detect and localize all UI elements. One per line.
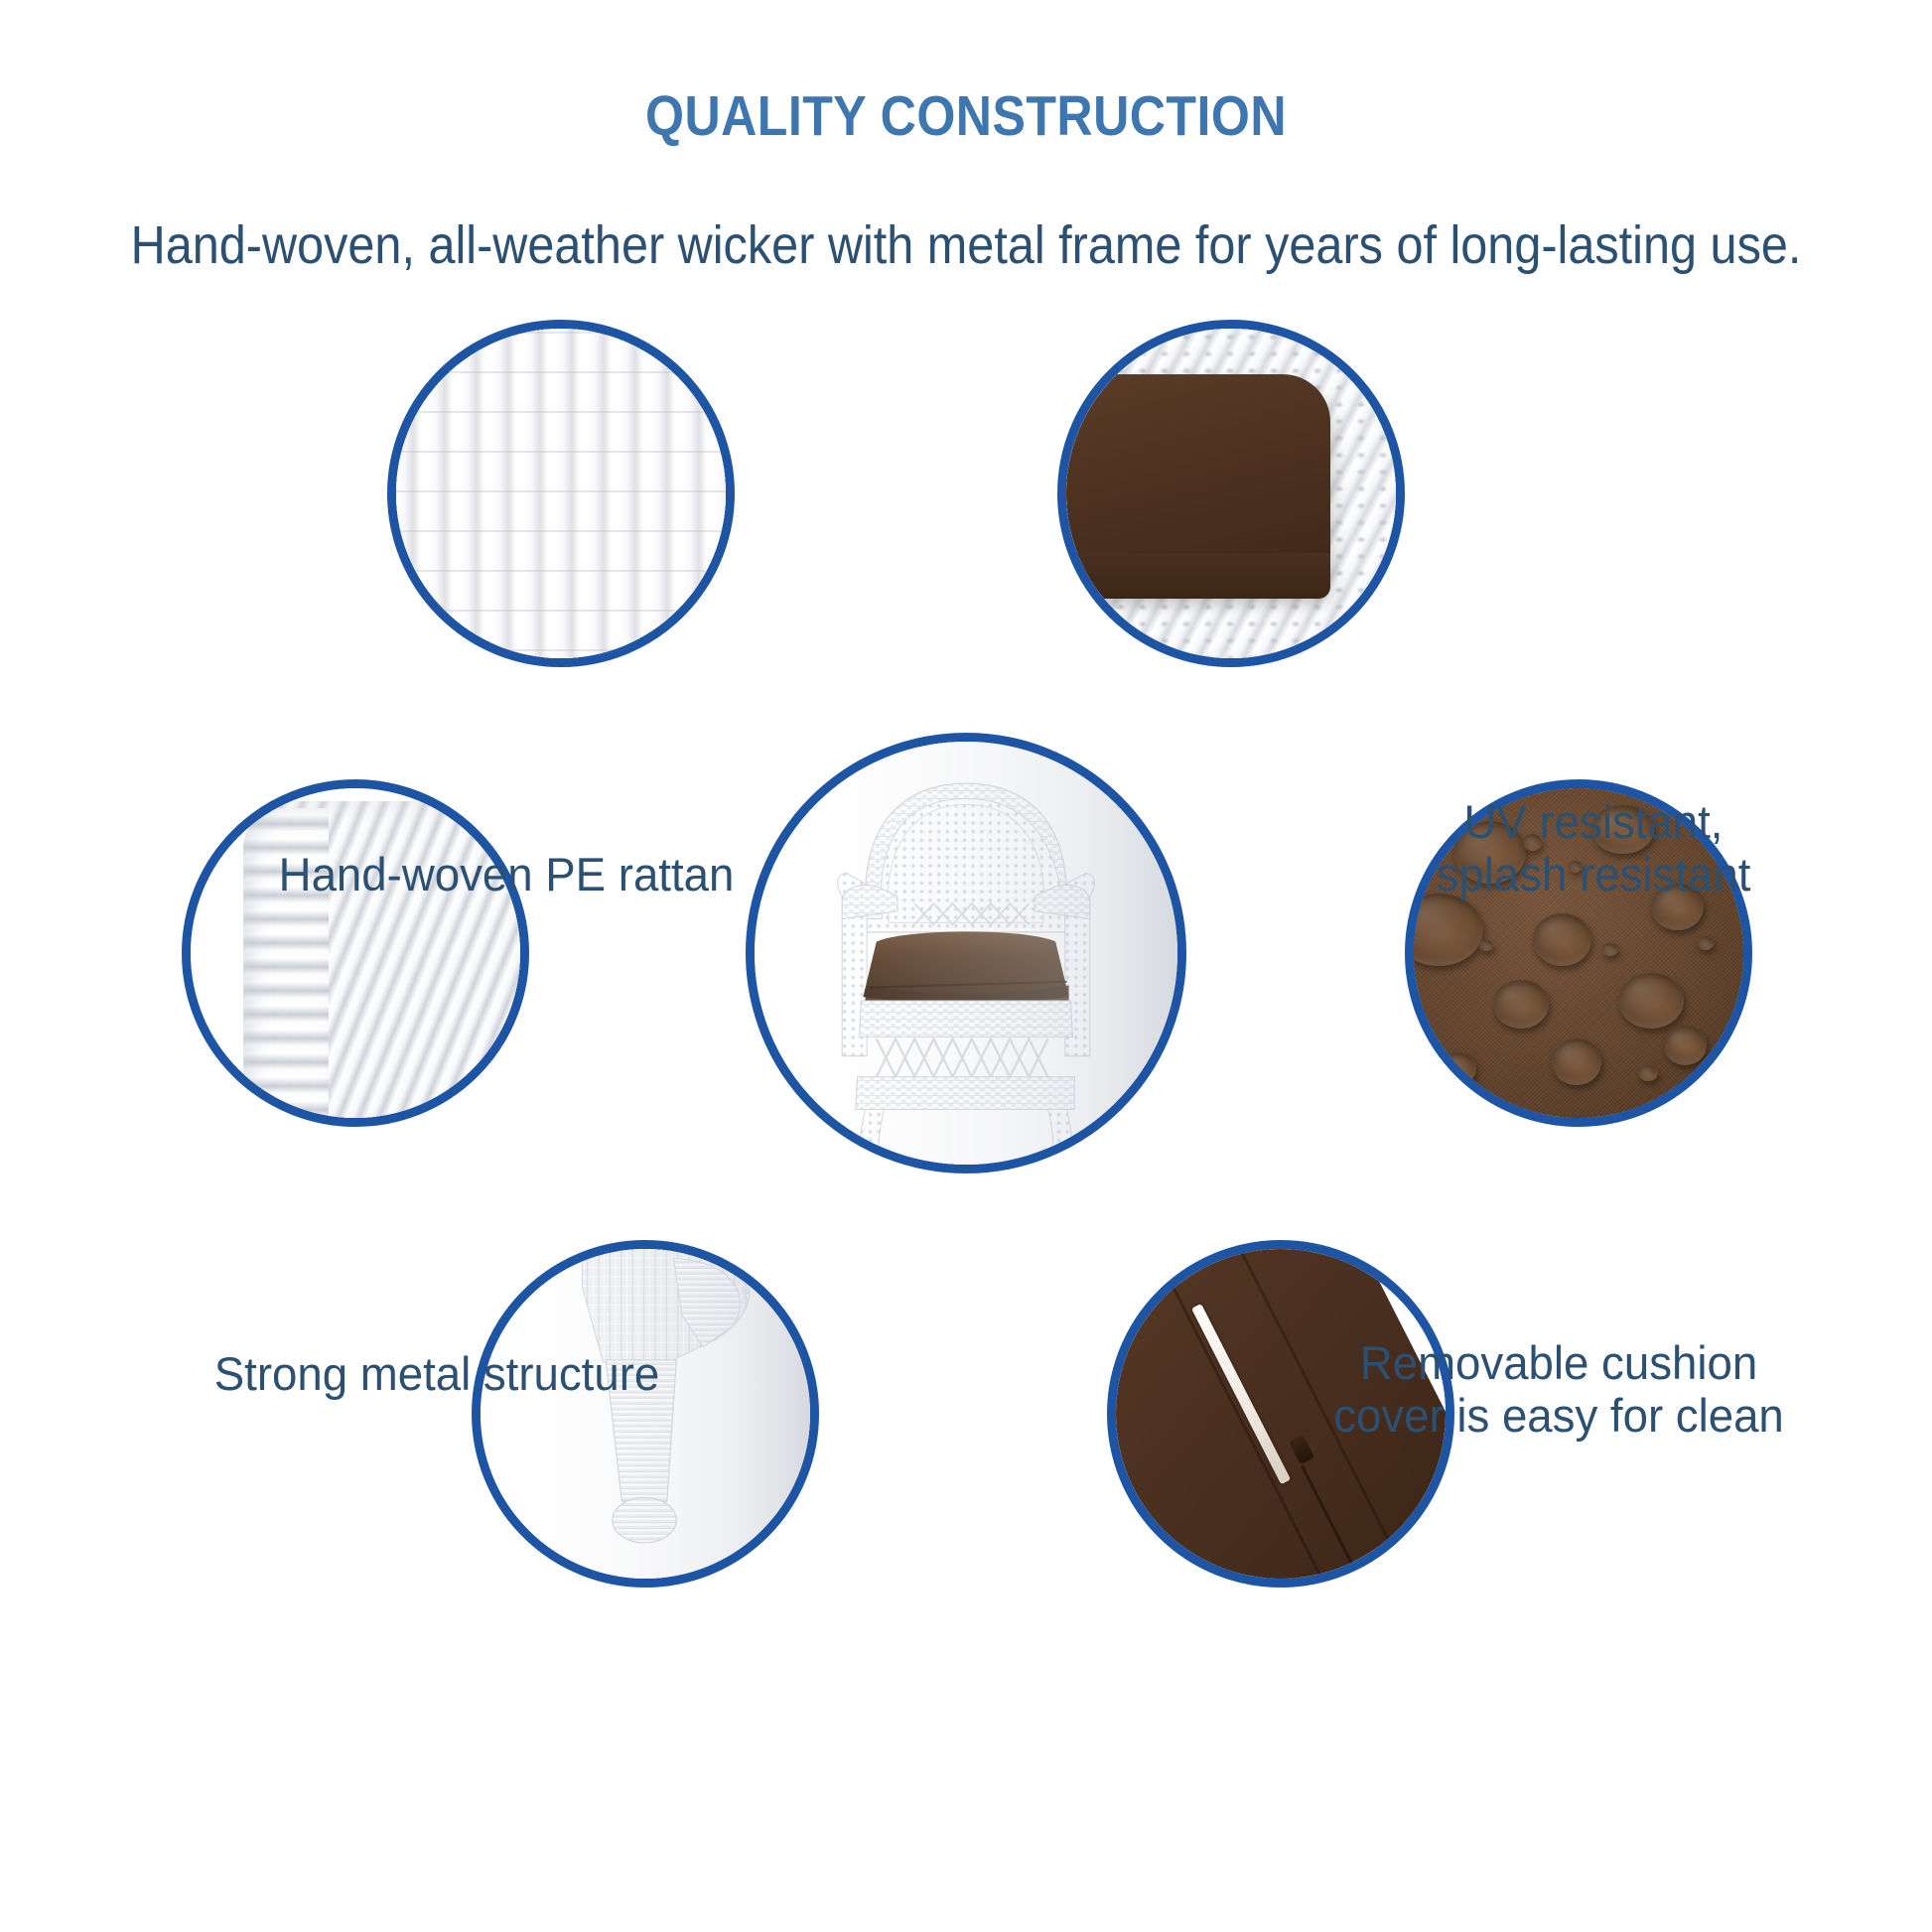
bubble-chair-leg-detail [472, 1240, 819, 1587]
water-drop [1405, 894, 1483, 966]
water-drop [1601, 943, 1618, 956]
caption-removable-cushion-cover: Removable cushion cover is easy for clea… [1251, 1337, 1867, 1442]
white-rattan-weave-art [396, 329, 726, 658]
infographic-page: QUALITY CONSTRUCTION Hand-woven, all-wea… [0, 0, 1932, 1932]
wicker-arm-art [191, 788, 520, 1118]
chair-leg-art [481, 1249, 810, 1579]
water-drop [1493, 980, 1549, 1030]
water-drop [1441, 1052, 1477, 1085]
page-title: QUALITY CONSTRUCTION [116, 83, 1816, 149]
caption-hand-woven-pe-rattan: Hand-woven PE rattan [121, 849, 892, 901]
water-drop [1664, 1026, 1707, 1065]
caption-strong-metal-structure: Strong metal structure [70, 1348, 802, 1401]
bubble-uv-splash-resistant [1057, 320, 1405, 667]
caption-uv-splash-resistant: UV resistant, splash resistant [1343, 796, 1844, 900]
chair-art [755, 742, 1177, 1165]
water-drop [1698, 936, 1715, 949]
water-drop [1552, 1038, 1601, 1084]
water-drop [1533, 913, 1592, 966]
water-drop [1638, 1065, 1658, 1082]
bubble-strong-metal-structure [182, 779, 529, 1127]
water-drop [1479, 940, 1492, 952]
cushion-lower-band [1057, 553, 1330, 599]
bubble-full-chair [746, 733, 1186, 1173]
bubble-hand-woven-pe-rattan [387, 320, 735, 667]
water-drop [1618, 973, 1684, 1029]
page-subtitle: Hand-woven, all-weather wicker with meta… [96, 214, 1835, 276]
